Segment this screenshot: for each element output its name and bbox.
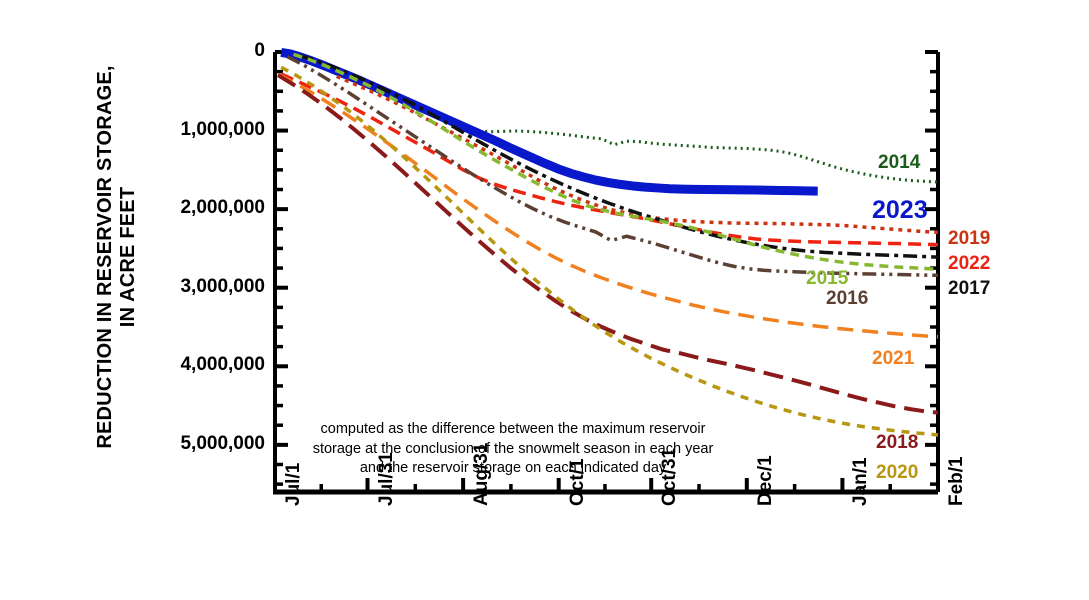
series-label-2019: 2019 — [948, 228, 990, 250]
y-tick-label-2: 2,000,000 — [180, 197, 265, 219]
y-tick-label-5: 5,000,000 — [180, 433, 265, 455]
series-label-2023: 2023 — [872, 196, 928, 225]
x-tick-label-7: Feb/1 — [946, 456, 968, 506]
x-tick-label-3: Oct/1 — [567, 458, 589, 506]
series-label-2014: 2014 — [878, 152, 920, 174]
series-label-2015: 2015 — [806, 268, 848, 290]
series-label-2022: 2022 — [948, 253, 990, 275]
series-label-2020: 2020 — [876, 462, 918, 484]
series-line-2022 — [281, 74, 938, 245]
x-tick-label-0: Jul/1 — [283, 463, 305, 506]
y-tick-label-0: 0 — [254, 40, 265, 62]
series-label-2016: 2016 — [826, 288, 868, 310]
y-tick-label-3: 3,000,000 — [180, 276, 265, 298]
y-tick-label-1: 1,000,000 — [180, 119, 265, 141]
plot-canvas — [0, 0, 1089, 600]
y-tick-label-4: 4,000,000 — [180, 354, 265, 376]
series-label-2021: 2021 — [872, 348, 914, 370]
annotation-line-1: computed as the difference between the m… — [283, 420, 743, 440]
x-tick-label-2: Aug/31 — [471, 443, 493, 506]
series-line-2014 — [284, 54, 938, 182]
x-tick-label-5: Dec/1 — [755, 455, 777, 506]
reservoir-storage-chart: REDUCTION IN RESERVOIR STORAGE, IN ACRE … — [0, 0, 1089, 600]
x-tick-label-6: Jan/1 — [850, 457, 872, 506]
series-line-2017 — [300, 56, 938, 258]
x-tick-label-1: Jul/31 — [376, 452, 398, 506]
series-label-2017: 2017 — [948, 278, 990, 300]
series-label-2018: 2018 — [876, 432, 918, 454]
x-tick-label-4: Oct/31 — [659, 448, 681, 506]
series-line-2015 — [294, 54, 939, 269]
series-line-2019 — [337, 76, 938, 232]
